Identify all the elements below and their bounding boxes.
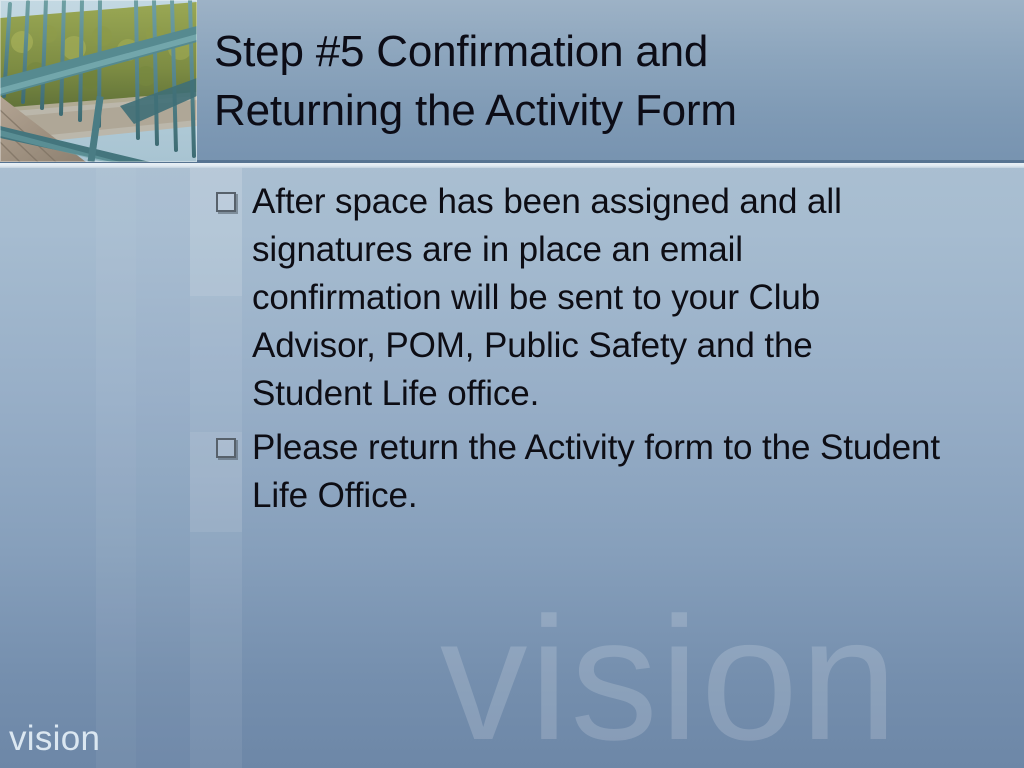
bullet-item: Please return the Activity form to the S…: [0, 424, 1024, 520]
bridge-railing-photo: [0, 0, 197, 162]
vision-watermark-small: vision: [9, 718, 100, 760]
bullet-text: Please return the Activity form to the S…: [252, 424, 942, 520]
hollow-square-bullet-icon: [216, 438, 236, 458]
presentation-slide: vision: [0, 0, 1024, 768]
vision-watermark-large: vision: [440, 592, 1024, 767]
bridge-railing-photo-graphic: [0, 0, 197, 162]
hollow-square-bullet-icon: [216, 192, 236, 212]
bullet-item: After space has been assigned and all si…: [0, 178, 1024, 418]
bullet-text: After space has been assigned and all si…: [252, 178, 942, 418]
slide-body: After space has been assigned and all si…: [0, 178, 1024, 526]
title-divider: [0, 163, 1024, 168]
slide-title: Step #5 Confirmation and Returning the A…: [214, 22, 1004, 140]
